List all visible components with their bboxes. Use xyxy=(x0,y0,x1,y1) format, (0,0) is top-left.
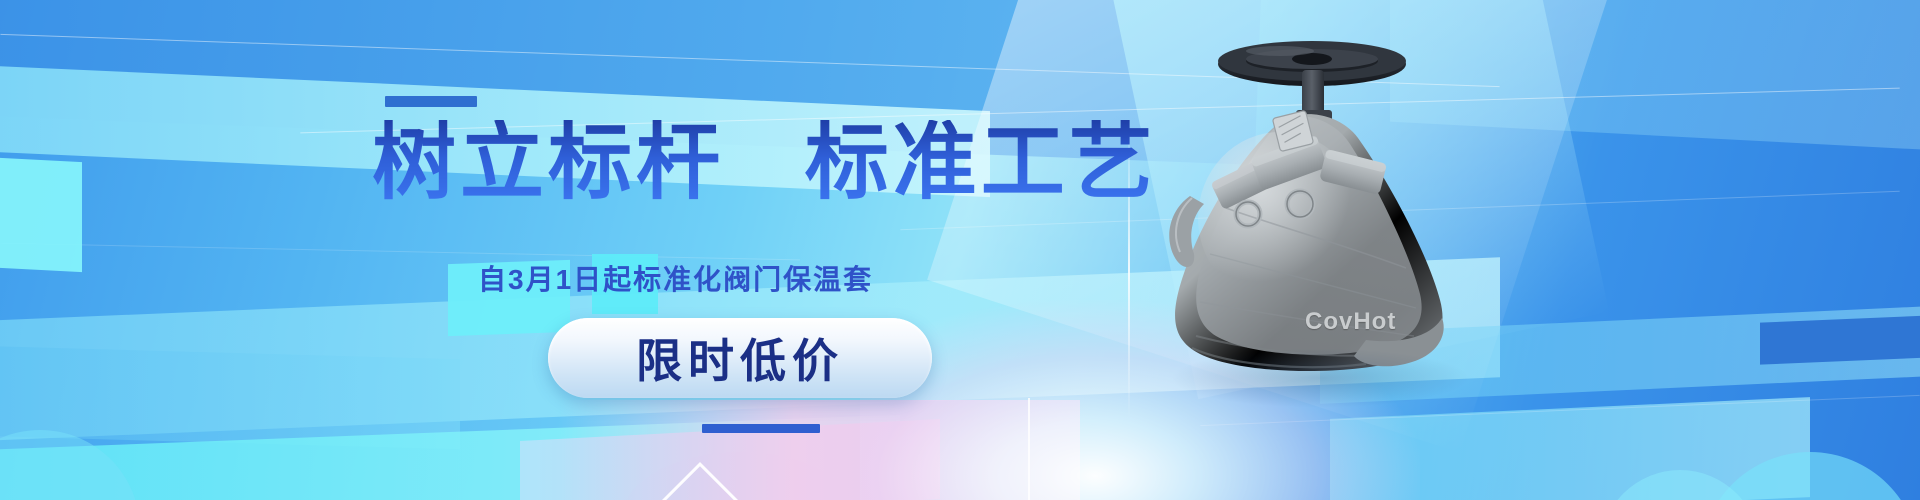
jacket-id-tag xyxy=(1272,110,1313,151)
product-image: CovHot xyxy=(1130,18,1550,438)
headline-part-2: 标准工艺 xyxy=(805,115,1157,209)
product-shadow xyxy=(1170,348,1470,408)
banner-content: 树立标杆 标准工艺 自3月1日起标准化阀门保温套 限时低价 xyxy=(0,0,1920,500)
banner-headline: 树立标杆 标准工艺 xyxy=(372,120,1157,204)
headline-part-1: 树立标杆 xyxy=(372,115,724,209)
accent-bar-under-cta xyxy=(702,424,820,433)
banner-subtitle: 自3月1日起标准化阀门保温套 xyxy=(478,258,873,298)
promo-banner: 树立标杆 标准工艺 自3月1日起标准化阀门保温套 限时低价 xyxy=(0,0,1920,500)
cta-button-label: 限时低价 xyxy=(636,325,844,391)
accent-rule xyxy=(385,96,477,107)
cta-button[interactable]: 限时低价 xyxy=(548,318,932,398)
